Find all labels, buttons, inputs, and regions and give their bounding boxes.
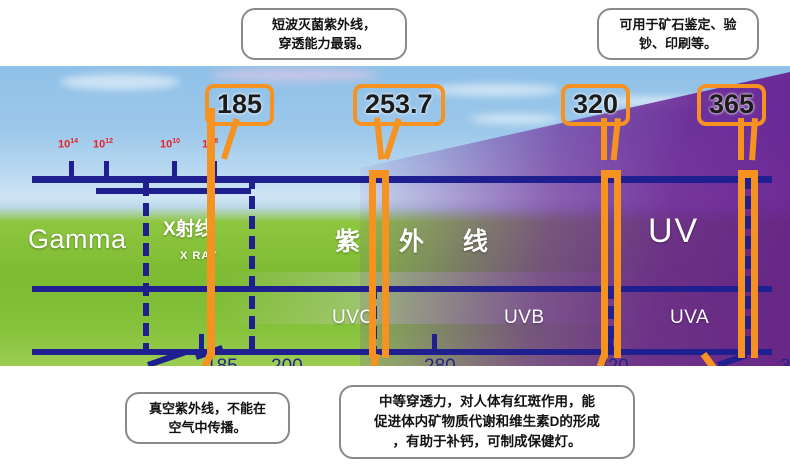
callout-365-tail-left [738,118,744,160]
pointer-365-vertical-left [738,170,745,358]
exponent-label-1: 1014 [58,138,78,151]
tooltip-top-right: 可用于矿石鉴定、验 钞、印刷等。 [597,8,759,60]
axis-number-280: 280 [424,356,456,366]
band-label-uv-cn: 紫 外 线 [335,222,504,258]
spectrum-infographic: 短波灭菌紫外线， 穿透能力最弱。 可用于矿石鉴定、验 钞、印刷等。 1014 1… [0,0,790,465]
cloud-decoration [60,74,180,90]
axis-number-200: 200 [271,356,303,366]
pointer-253-diagonal [364,353,380,366]
band-label-uvc: UVC [332,307,374,329]
tick-mark [172,161,177,177]
pointer-320-vertical-right [614,170,621,358]
divider-xray-uv [249,176,255,355]
tooltip-top-right-line1: 可用于矿石鉴定、验 [609,15,747,34]
band-label-uva: UVA [670,307,709,329]
cloud-decoration [430,84,560,96]
rail-secondary-left [96,188,251,194]
tooltip-bottom-center-line2: 促进体内矿物质代谢和维生素D的形成 [351,412,623,432]
tick-axis-200 [199,334,204,350]
band-label-uv-en: UV [648,212,699,251]
tooltip-top-right-line2: 钞、印刷等。 [609,34,747,53]
divider-gamma-xray [143,183,149,355]
tooltip-bottom-left-line1: 真空紫外线，不能在 [137,399,278,418]
tick-mark [104,161,109,177]
pointer-320-vertical-left [601,170,608,358]
cloud-decoration [470,114,560,124]
tooltip-top-left-line2: 穿透能力最弱。 [253,34,395,53]
pointer-253-vertical-right [382,170,389,358]
pointer-365-cap [738,170,758,178]
tick-mark [69,161,74,177]
tooltip-bottom-center-line1: 中等穿透力，对人体有红斑作用，能 [351,392,623,412]
tooltip-bottom-center: 中等穿透力，对人体有红斑作用，能 促进体内矿物质代谢和维生素D的形成 ，有助于补… [339,385,635,459]
exponent-label-2: 1012 [93,138,113,151]
pointer-253-vertical-left [369,170,376,358]
axis-number-380: 3 [780,356,790,366]
tick-axis-280 [432,334,437,350]
tooltip-bottom-left: 真空紫外线，不能在 空气中传播。 [125,392,290,444]
cloud-decoration [210,68,380,82]
tick-axis-320 [608,336,613,350]
rail-top [32,176,772,183]
pointer-253-cap [369,170,389,178]
tooltip-top-left-line1: 短波灭菌紫外线， [253,15,395,34]
band-label-uvb: UVB [504,307,545,329]
band-label-gamma: Gamma [28,224,127,255]
tooltip-top-left: 短波灭菌紫外线， 穿透能力最弱。 [241,8,407,60]
exponent-label-3: 1010 [160,138,180,151]
pointer-185-vertical [207,108,215,358]
tooltip-bottom-center-line3: ，有助于补钙，可制成保健灯。 [351,432,623,452]
tooltip-bottom-left-line2: 空气中传播。 [137,418,278,437]
callout-320-tail-left [601,118,607,160]
pointer-320-cap [601,170,621,178]
pointer-365-vertical-right [751,170,758,358]
